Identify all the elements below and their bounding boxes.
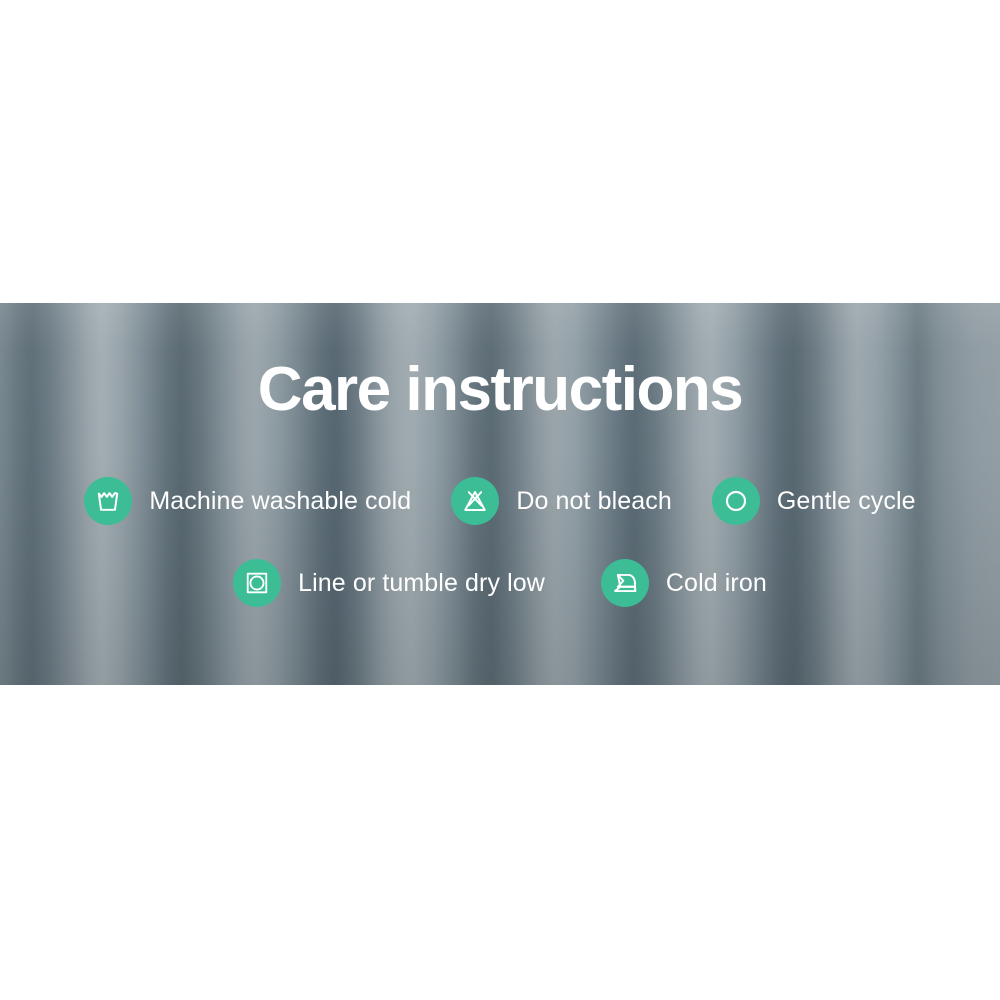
care-instructions-banner: Care instructions Machine washable cold [0, 303, 1000, 685]
care-item-gentle-cycle: Gentle cycle [712, 477, 916, 525]
care-item-label: Cold iron [666, 571, 767, 596]
care-item-cold-iron: Cold iron [601, 559, 767, 607]
page-title: Care instructions [0, 359, 1000, 421]
page-stage: Care instructions Machine washable cold [0, 0, 1000, 1000]
care-instructions-content: Care instructions Machine washable cold [0, 303, 1000, 685]
care-item-label: Gentle cycle [777, 489, 916, 514]
care-item-do-not-bleach: Do not bleach [451, 477, 672, 525]
care-item-label: Machine washable cold [149, 489, 411, 514]
care-row-secondary: Line or tumble dry low Cold iron [0, 559, 1000, 607]
gentle-cycle-circle-icon [712, 477, 760, 525]
care-item-line-or-tumble-dry-low: Line or tumble dry low [233, 559, 545, 607]
care-row-primary: Machine washable cold Do not bleach [0, 477, 1000, 525]
no-bleach-triangle-icon [451, 477, 499, 525]
care-item-label: Do not bleach [516, 489, 672, 514]
care-item-machine-washable-cold: Machine washable cold [84, 477, 411, 525]
care-item-label: Line or tumble dry low [298, 571, 545, 596]
tumble-dry-icon [233, 559, 281, 607]
wash-tub-icon [84, 477, 132, 525]
iron-icon [601, 559, 649, 607]
